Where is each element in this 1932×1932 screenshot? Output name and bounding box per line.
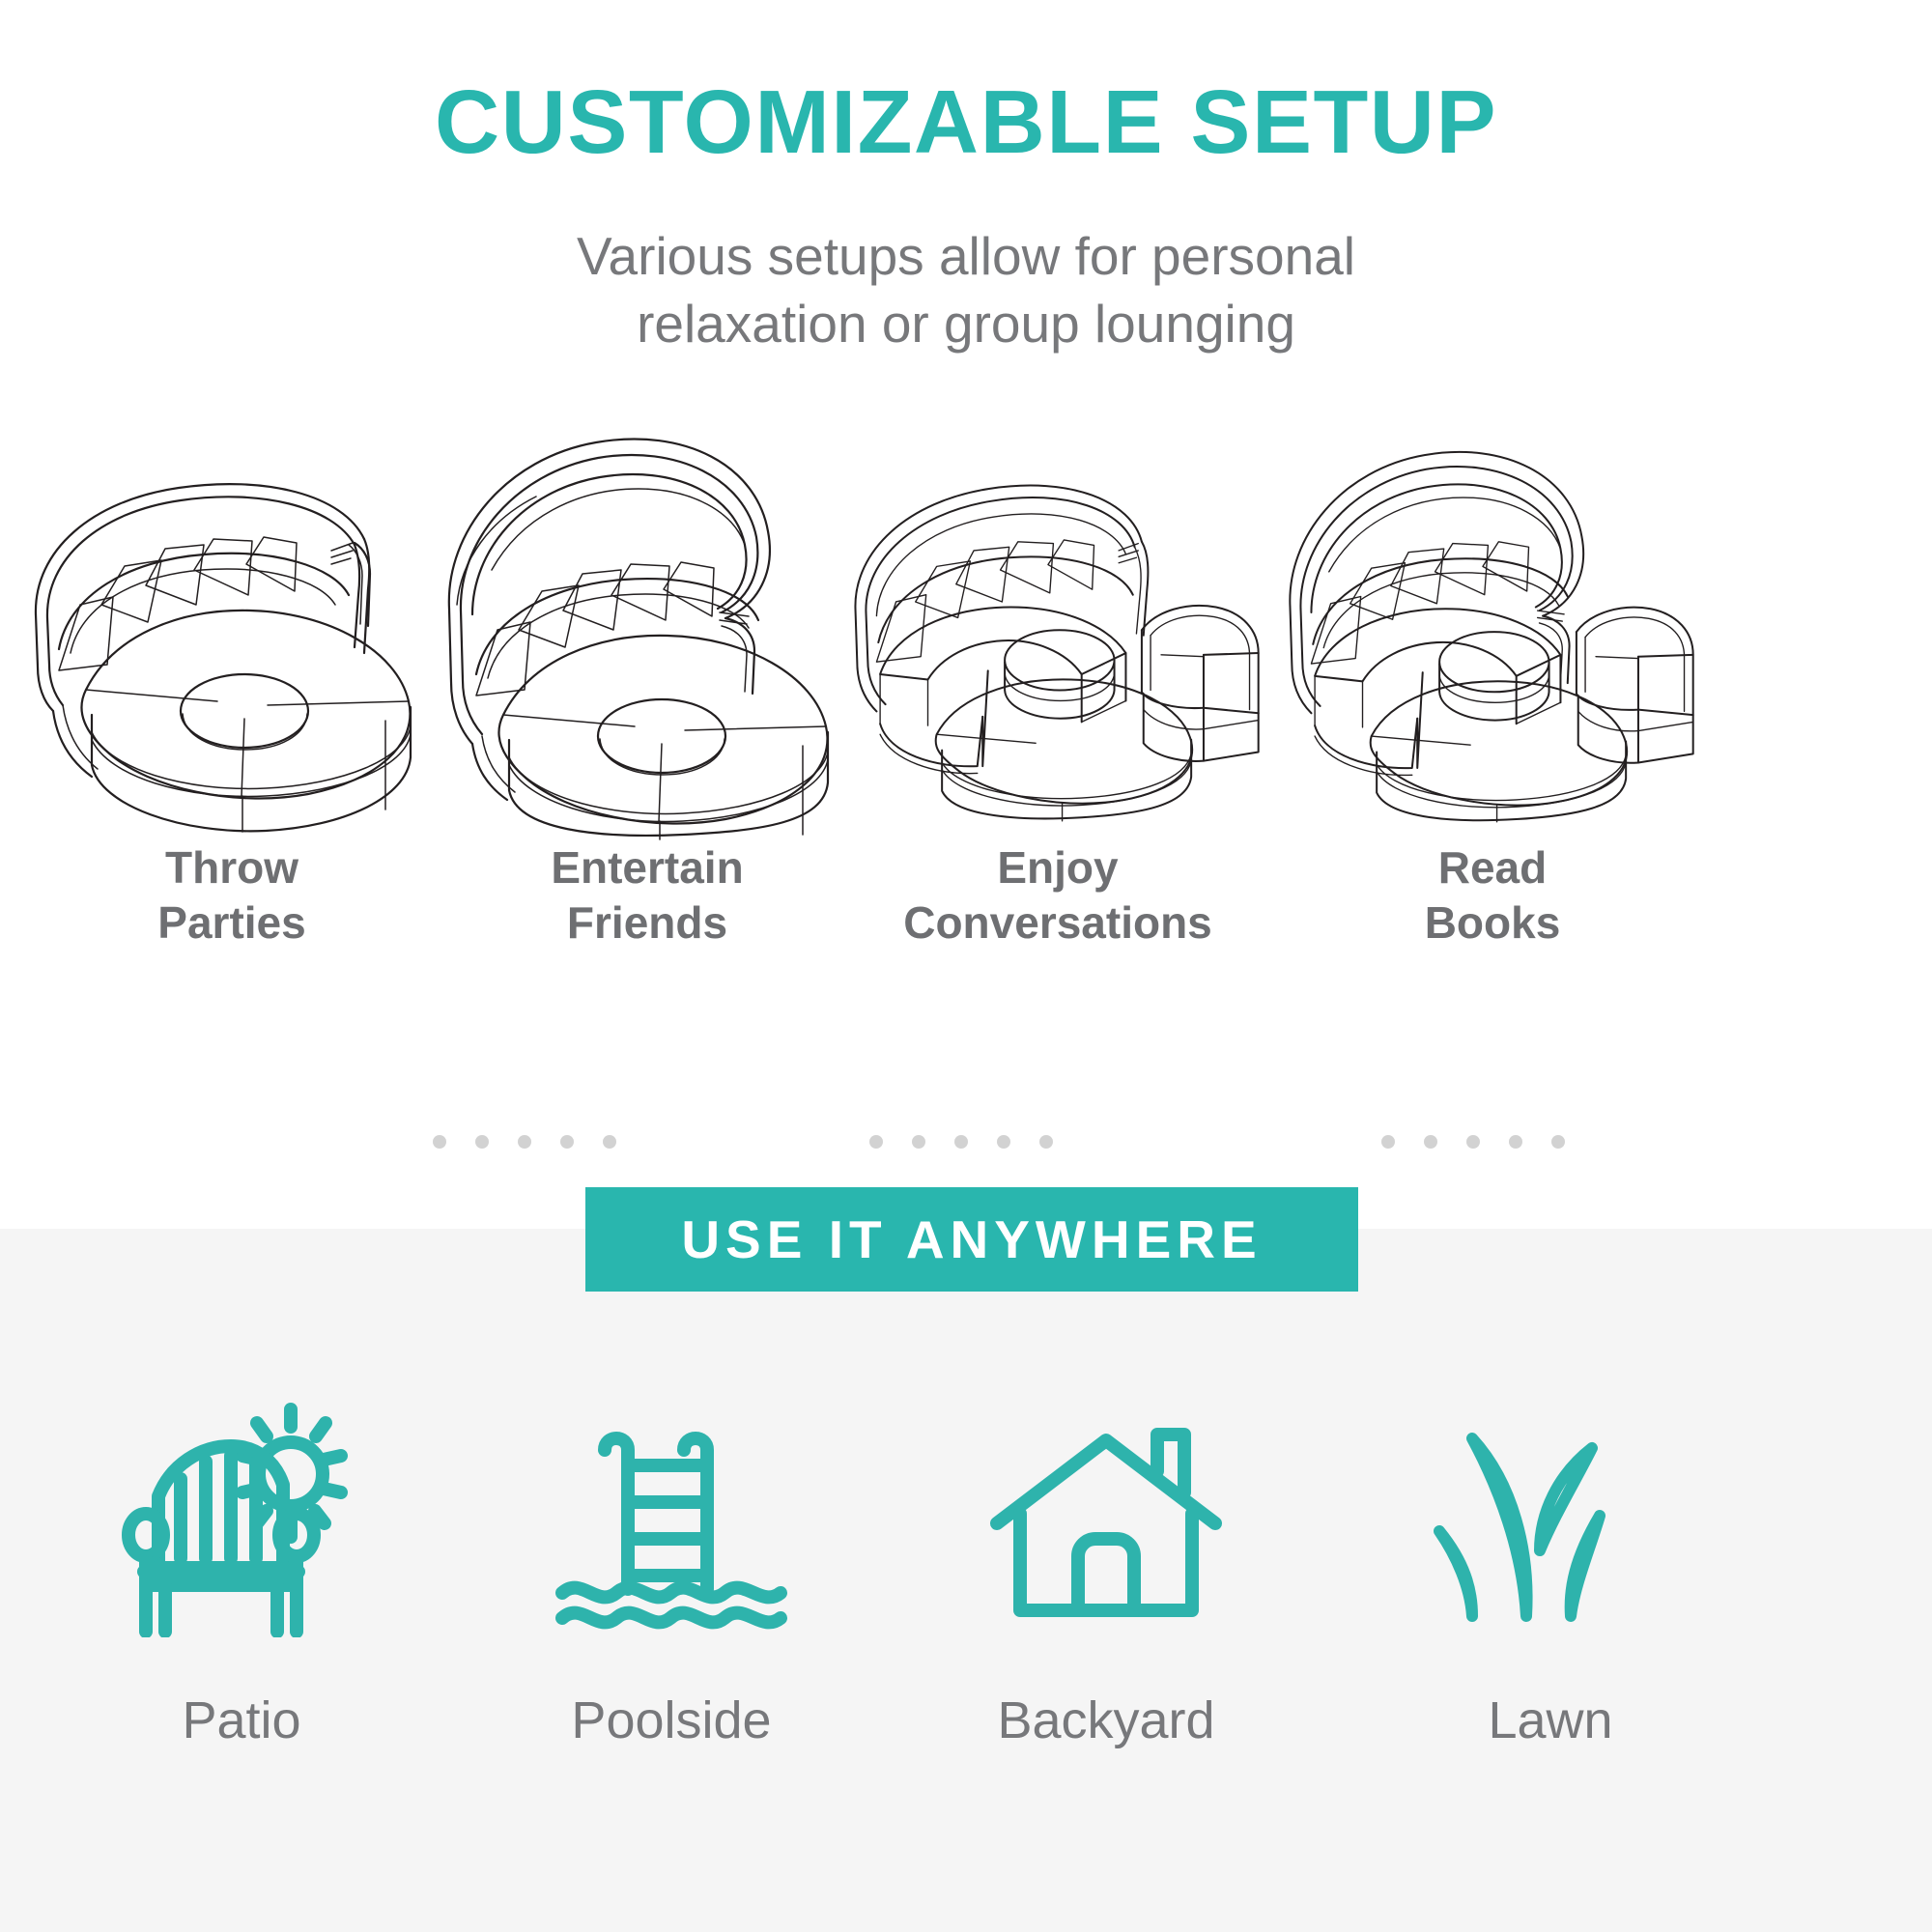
anywhere-label: Lawn <box>1343 1690 1758 1750</box>
separator-dots-2 <box>869 1135 1053 1149</box>
dot <box>1039 1135 1053 1149</box>
dot <box>603 1135 616 1149</box>
setup-item-read-books: Read Books <box>1285 425 1700 1034</box>
setup-item-enjoy-conversations: Enjoy Conversations <box>850 425 1265 1034</box>
anywhere-row: Patio <box>0 1372 1932 1913</box>
setup-label-line-1: Read <box>1285 840 1700 895</box>
separator-dots-3 <box>1381 1135 1565 1149</box>
dot <box>912 1135 925 1149</box>
anywhere-item-backyard: Backyard <box>898 1372 1314 1826</box>
anywhere-item-poolside: Poolside <box>464 1372 879 1826</box>
round-daybed-closed-canopy-illustration <box>24 425 440 840</box>
setup-label-line-1: Entertain <box>440 840 855 895</box>
pool-ladder-waves-icon <box>464 1372 879 1662</box>
anywhere-label: Patio <box>34 1690 449 1750</box>
subtitle-line-1: Various setups allow for personal <box>0 222 1932 290</box>
anywhere-item-lawn: Lawn <box>1343 1372 1758 1826</box>
dot <box>560 1135 574 1149</box>
dot <box>869 1135 883 1149</box>
use-it-anywhere-banner: USE IT ANYWHERE <box>585 1187 1358 1292</box>
subtitle-line-2: relaxation or group lounging <box>0 290 1932 357</box>
dot <box>1509 1135 1522 1149</box>
dot <box>433 1135 446 1149</box>
dot <box>475 1135 489 1149</box>
setup-label-line-2: Parties <box>24 895 440 951</box>
anywhere-label: Poolside <box>464 1690 879 1750</box>
grass-blades-icon <box>1343 1372 1758 1662</box>
setup-label: Enjoy Conversations <box>850 840 1265 951</box>
dot <box>1424 1135 1437 1149</box>
dot <box>1466 1135 1480 1149</box>
setup-item-entertain-friends: Entertain Friends <box>440 425 855 1034</box>
separated-daybed-sofa-table-ottoman-illustration <box>850 425 1265 840</box>
setup-label-line-1: Throw <box>24 840 440 895</box>
page-title: CUSTOMIZABLE SETUP <box>0 75 1932 170</box>
dot <box>997 1135 1010 1149</box>
setup-label: Read Books <box>1285 840 1700 951</box>
separator-dots-1 <box>433 1135 616 1149</box>
dot <box>1381 1135 1395 1149</box>
anywhere-label: Backyard <box>898 1690 1314 1750</box>
setups-row: Throw Parties <box>0 425 1932 1034</box>
setup-label-line-2: Conversations <box>850 895 1265 951</box>
separated-daybed-canopy-ottoman-illustration <box>1285 425 1700 840</box>
setup-label-line-2: Friends <box>440 895 855 951</box>
page-subtitle: Various setups allow for personal relaxa… <box>0 222 1932 358</box>
dot <box>954 1135 968 1149</box>
anywhere-item-patio: Patio <box>34 1372 449 1826</box>
dot <box>1551 1135 1565 1149</box>
round-daybed-open-canopy-illustration <box>440 425 855 840</box>
house-icon <box>898 1372 1314 1662</box>
dot <box>518 1135 531 1149</box>
banner-text: USE IT ANYWHERE <box>681 1208 1262 1270</box>
setup-item-throw-parties: Throw Parties <box>24 425 440 1034</box>
adirondack-chair-sun-icon <box>34 1372 449 1662</box>
setup-label-line-1: Enjoy <box>850 840 1265 895</box>
infographic-page: CUSTOMIZABLE SETUP Various setups allow … <box>0 0 1932 1932</box>
setup-label-line-2: Books <box>1285 895 1700 951</box>
setup-label: Entertain Friends <box>440 840 855 951</box>
setup-label: Throw Parties <box>24 840 440 951</box>
